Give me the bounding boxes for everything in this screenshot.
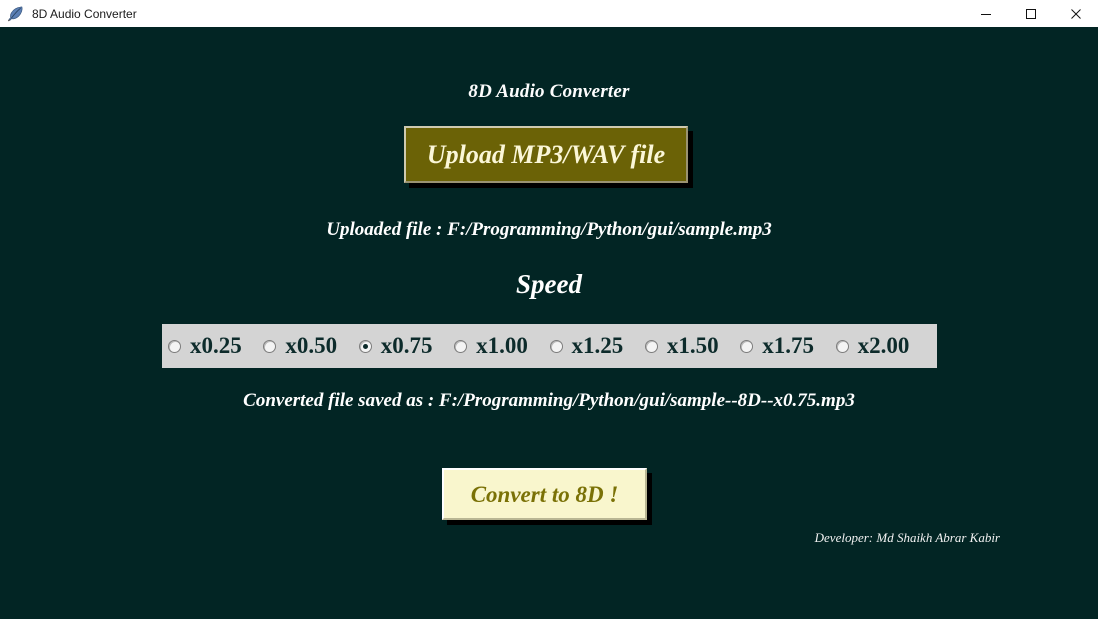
converted-file-label: Converted file saved as : F:/Programming… [0,390,1098,412]
speed-option-x1.00[interactable]: x1.00 [454,333,549,359]
speed-option-x1.50[interactable]: x1.50 [645,333,740,359]
radio-button-icon[interactable] [645,340,658,353]
speed-option-x0.75[interactable]: x0.75 [359,333,454,359]
close-button[interactable] [1053,0,1098,27]
speed-option-x1.25[interactable]: x1.25 [550,333,645,359]
speed-option-label: x2.00 [858,333,910,359]
radio-button-icon[interactable] [263,340,276,353]
speed-heading: Speed [0,269,1098,300]
feather-icon [6,5,24,23]
speed-option-label: x1.00 [476,333,528,359]
radio-button-icon[interactable] [359,340,372,353]
title-bar: 8D Audio Converter [0,0,1098,27]
radio-button-icon[interactable] [454,340,467,353]
app-window: 8D Audio Converter 8D Audi [0,0,1098,619]
speed-option-label: x1.75 [762,333,814,359]
radio-button-icon[interactable] [836,340,849,353]
speed-option-label: x0.75 [381,333,433,359]
radio-button-icon[interactable] [550,340,563,353]
speed-option-label: x1.25 [572,333,624,359]
page-title: 8D Audio Converter [0,81,1098,103]
speed-option-x2.00[interactable]: x2.00 [836,333,931,359]
speed-option-x0.25[interactable]: x0.25 [168,333,263,359]
radio-button-icon[interactable] [740,340,753,353]
convert-button-container: Convert to 8D ! [442,468,647,520]
maximize-button[interactable] [1008,0,1053,27]
window-controls [963,0,1098,27]
speed-radio-group: x0.25x0.50x0.75x1.00x1.25x1.50x1.75x2.00 [162,324,937,368]
speed-option-x1.75[interactable]: x1.75 [740,333,835,359]
title-bar-left: 8D Audio Converter [0,5,963,23]
radio-button-icon[interactable] [168,340,181,353]
uploaded-file-label: Uploaded file : F:/Programming/Python/gu… [0,219,1098,241]
speed-option-label: x1.50 [667,333,719,359]
speed-option-x0.50[interactable]: x0.50 [263,333,358,359]
window-title: 8D Audio Converter [32,7,137,21]
developer-credit: Developer: Md Shaikh Abrar Kabir [0,530,1098,546]
speed-option-label: x0.50 [285,333,337,359]
convert-to-8d-button[interactable]: Convert to 8D ! [442,468,647,520]
upload-mp3-wav-button[interactable]: Upload MP3/WAV file [404,126,688,183]
minimize-button[interactable] [963,0,1008,27]
upload-button-container: Upload MP3/WAV file [404,126,688,183]
speed-option-label: x0.25 [190,333,242,359]
